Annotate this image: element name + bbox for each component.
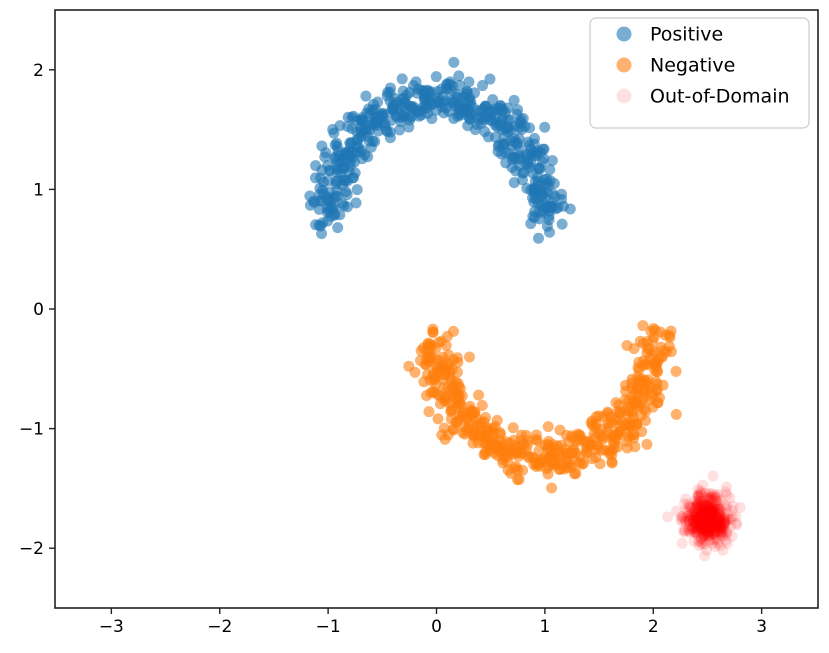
- legend-label-positive[interactable]: Positive: [650, 24, 723, 46]
- x-tick-label: −1: [316, 617, 341, 637]
- series-negative: [403, 320, 681, 493]
- legend-marker-out-of-domain[interactable]: [617, 89, 632, 104]
- series-positive: [304, 57, 575, 244]
- x-tick-label: 2: [648, 617, 659, 637]
- x-tick-label: 0: [431, 617, 442, 637]
- scatter-plot: −3−2−10123210−1−2 PositiveNegativeOut-of…: [0, 0, 829, 653]
- legend-marker-negative[interactable]: [617, 58, 632, 73]
- y-tick-label: −2: [19, 539, 44, 559]
- figure-canvas: −3−2−10123210−1−2 PositiveNegativeOut-of…: [0, 0, 829, 653]
- x-tick-label: −3: [99, 617, 124, 637]
- legend[interactable]: PositiveNegativeOut-of-Domain: [590, 18, 809, 128]
- legend-label-negative[interactable]: Negative: [650, 55, 735, 77]
- y-tick-label: −1: [19, 420, 44, 440]
- x-tick-label: 3: [756, 617, 767, 637]
- plot-points-layer: [304, 57, 745, 562]
- series-out-of-domain: [662, 470, 746, 561]
- x-tick-label: 1: [539, 617, 550, 637]
- y-tick-label: 2: [33, 61, 44, 81]
- legend-marker-positive[interactable]: [617, 27, 632, 42]
- x-tick-label: −2: [207, 617, 232, 637]
- legend-label-out-of-domain[interactable]: Out-of-Domain: [650, 86, 790, 108]
- y-tick-label: 0: [33, 300, 44, 320]
- y-tick-label: 1: [33, 180, 44, 200]
